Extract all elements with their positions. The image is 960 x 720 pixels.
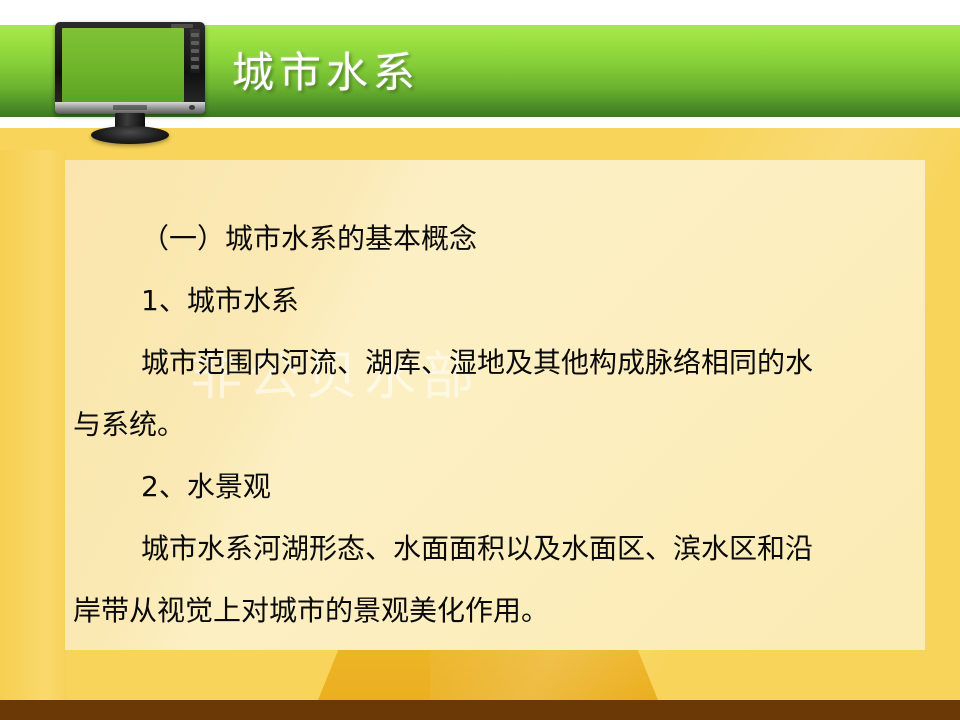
slide-canvas: 城市水系 非公贝水部 （一）城市水系的基本概念 1、城市水系 城市范围内河流、湖…: [0, 0, 960, 720]
monitor-button: [191, 49, 199, 53]
item-1-line-1: 城市范围内河流、湖库、湿地及其他构成脉络相同的水: [65, 332, 925, 394]
item-2-line-1: 城市水系河湖形态、水面面积以及水面区、滨水区和沿: [65, 518, 925, 580]
monitor-button: [191, 65, 199, 69]
lcd-monitor-icon: [55, 22, 205, 142]
item-2-line-2: 岸带从视觉上对城市的景观美化作用。: [65, 580, 925, 642]
item-1-heading: 1、城市水系: [65, 270, 925, 332]
monitor-power-led: [189, 105, 195, 110]
monitor-button: [191, 33, 199, 37]
monitor-bezel: [55, 22, 205, 114]
page-title: 城市水系: [232, 44, 652, 104]
item-1-line-2: 与系统。: [65, 394, 925, 456]
monitor-brand-logo: [113, 105, 147, 110]
content-body: （一）城市水系的基本概念 1、城市水系 城市范围内河流、湖库、湿地及其他构成脉络…: [65, 160, 925, 650]
monitor-button: [191, 41, 199, 45]
monitor-stand-base: [91, 126, 169, 144]
section-heading: （一）城市水系的基本概念: [65, 208, 925, 270]
item-2-heading: 2、水景观: [65, 456, 925, 518]
monitor-button: [191, 57, 199, 61]
background-left-panel: [0, 150, 66, 700]
footer-bar: [0, 700, 960, 720]
monitor-screen: [62, 28, 184, 102]
